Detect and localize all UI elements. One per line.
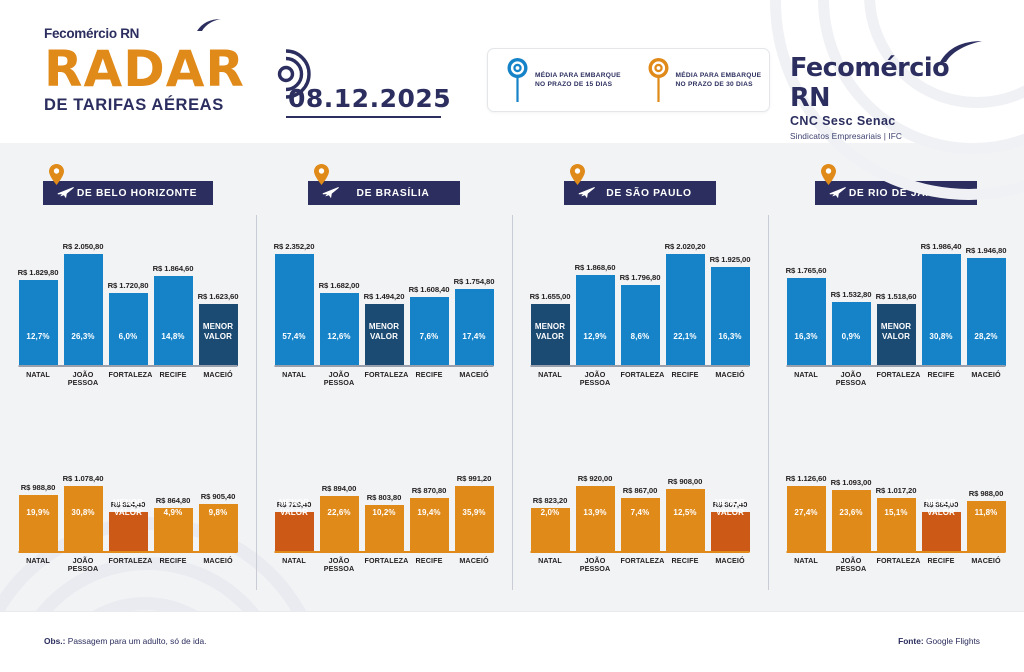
category-label: RECIFE [922,371,961,388]
bar-value-label: R$ 1.946,80 [966,246,1007,255]
bar-slot: R$ 1.925,0016,3% [711,255,750,366]
chart-30-dias: R$ 988,8019,9%R$ 1.078,4030,8%R$ 824,40M… [0,454,256,574]
category-labels: NATALJOÃOPESSOAFORTALEZARECIFEMACEIÓ [256,557,512,574]
bar[interactable]: MENORVALOR [531,304,570,366]
bar-slot: R$ 807,40MENORVALOR [711,500,750,552]
bar-percent-label: 16,3% [718,332,741,366]
category-label: FORTALEZA [109,371,148,388]
bar[interactable]: 12,9% [576,275,615,366]
bar-percent-label: 15,1% [884,508,907,552]
bar-percent-label: 12,5% [673,508,696,552]
bar-percent-label: MENORVALOR [369,322,399,366]
chart-15-dias: R$ 2.352,2057,4%R$ 1.682,0012,6%R$ 1.494… [256,213,512,388]
bar-value-label: R$ 988,00 [969,489,1004,498]
category-label: RECIFE [154,371,193,388]
bar-value-label: R$ 991,20 [457,474,492,483]
bar-value-label: R$ 894,00 [322,484,357,493]
fecomercio-logo-sub: CNC Sesc Senac [790,114,990,128]
bar-percent-label: 57,4% [282,332,305,366]
bar-value-label: R$ 1.925,00 [710,255,751,264]
category-label: MACEIÓ [711,557,750,574]
bar-percent-label: MENORVALOR [535,322,565,366]
bar-slot: R$ 729,40MENORVALOR [275,500,314,552]
bar-value-label: R$ 1.754,80 [454,277,495,286]
report-date: 08.12.2025 [288,84,451,113]
bar[interactable]: 14,8% [154,276,193,366]
chart-15-dias: R$ 1.765,6016,3%R$ 1.532,800,9%R$ 1.518,… [768,213,1024,388]
bar-slot: R$ 1.868,6012,9% [576,263,615,366]
bar-value-label: R$ 1.126,60 [786,474,827,483]
bar-percent-label: 0,9% [842,332,861,366]
bar-slot: R$ 988,8019,9% [19,483,58,552]
origin-column: DE SÃO PAULOR$ 1.655,00MENORVALORR$ 1.86… [512,143,768,611]
bar-value-label: R$ 908,00 [668,477,703,486]
bar[interactable]: MENORVALOR [922,512,961,552]
category-label: JOÃOPESSOA [64,371,103,388]
category-label: FORTALEZA [365,557,404,574]
chart-30-dias: R$ 823,202,0%R$ 920,0013,9%R$ 867,007,4%… [512,454,768,574]
bar[interactable]: 35,9% [455,486,494,552]
page-header: Fecomércio RN RADAR DE TARIFAS AÉREAS 08… [0,0,1024,143]
bar-value-label: R$ 2.020,20 [665,242,706,251]
bar-value-label: R$ 1.868,60 [575,263,616,272]
bar-value-label: R$ 1.494,20 [364,292,405,301]
location-pin-icon [49,164,64,190]
category-label: RECIFE [410,371,449,388]
bar[interactable]: 8,6% [621,285,660,366]
chart-30-dias: R$ 729,40MENORVALORR$ 894,0022,6%R$ 803,… [256,454,512,574]
category-label: MACEIÓ [711,371,750,388]
bar-slot: R$ 1.682,0012,6% [320,281,359,366]
bar-value-label: R$ 1.093,00 [831,478,872,487]
legend-line2: NO PRAZO DE 15 DIAS [535,80,621,90]
bar-value-label: R$ 2.352,20 [274,242,315,251]
bar-percent-label: 8,6% [631,332,650,366]
bar[interactable]: 0,9% [832,302,871,366]
category-label: NATAL [19,371,58,388]
category-labels: NATALJOÃOPESSOAFORTALEZARECIFEMACEIÓ [256,371,512,388]
page-footer: Obs.: Passagem para um adulto, só de ida… [0,611,1024,672]
bar-percent-label: MENORVALOR [926,498,956,552]
bar[interactable]: 16,3% [711,267,750,366]
category-label: JOÃOPESSOA [576,371,615,388]
bar-group: R$ 988,8019,9%R$ 1.078,4030,8%R$ 824,40M… [0,432,256,552]
bar-percent-label: 23,6% [839,508,862,552]
bar-percent-label: 30,8% [71,508,94,552]
bar[interactable]: 30,8% [922,254,961,366]
bar[interactable]: 9,8% [199,504,238,552]
legend-line2-prefix: NO PRAZO DE [535,81,586,88]
bar-slot: R$ 2.352,2057,4% [275,242,314,366]
bar-percent-label: MENORVALOR [715,498,745,552]
bar-value-label: R$ 803,80 [367,493,402,502]
category-labels: NATALJOÃOPESSOAFORTALEZARECIFEMACEIÓ [0,371,256,388]
bar[interactable]: MENORVALOR [365,304,404,366]
bar-slot: R$ 1.093,0023,6% [832,478,871,552]
bar[interactable]: MENORVALOR [109,512,148,552]
bar[interactable]: 30,8% [64,486,103,552]
legend-item-15-dias: MÉDIA PARA EMBARQUE NO PRAZO DE 15 DIAS [488,54,629,107]
bar-percent-label: 4,9% [164,508,183,552]
category-label: RECIFE [154,557,193,574]
bar-value-label: R$ 1.765,60 [786,266,827,275]
category-label: FORTALEZA [109,557,148,574]
bar-group: R$ 729,40MENORVALORR$ 894,0022,6%R$ 803,… [256,432,512,552]
category-label: JOÃOPESSOA [576,557,615,574]
bar-slot: R$ 1.754,8017,4% [455,277,494,366]
bar-percent-label: 14,8% [161,332,184,366]
bar[interactable]: 16,3% [787,278,826,366]
footnote-source: Fonte: Google Flights [898,636,980,646]
bar-percent-label: 26,3% [71,332,94,366]
location-pin-icon [821,164,836,190]
bar-slot: R$ 920,0013,9% [576,474,615,552]
bar[interactable]: 7,6% [410,297,449,366]
chart-axis-line [787,551,1006,553]
fecomercio-small-label: Fecomércio RN [44,26,309,41]
bar-slot: R$ 1.829,8012,7% [19,268,58,366]
footnote-obs-label: Obs.: [44,636,65,646]
bar-slot: R$ 1.623,60MENORVALOR [199,292,238,366]
bar-percent-label: 12,9% [583,332,606,366]
legend-line2-strong: 30 DIAS [726,81,753,88]
chart-axis-line [531,365,750,367]
fecomercio-small-text: Fecomércio RN [44,26,139,41]
bar-slot: R$ 1.608,407,6% [410,285,449,366]
footnote-source-text: Google Flights [924,636,980,646]
category-label: NATAL [787,371,826,388]
bar-group: R$ 1.765,6016,3%R$ 1.532,800,9%R$ 1.518,… [768,191,1024,366]
bar-slot: R$ 823,202,0% [531,496,570,552]
bar-slot: R$ 1.765,6016,3% [787,266,826,366]
bar[interactable]: 23,6% [832,490,871,552]
bar-slot: R$ 988,0011,8% [967,489,1006,552]
category-label: FORTALEZA [877,371,916,388]
bar-slot: R$ 1.518,60MENORVALOR [877,292,916,366]
category-labels: NATALJOÃOPESSOAFORTALEZARECIFEMACEIÓ [512,557,768,574]
bar-slot: R$ 1.532,800,9% [832,290,871,366]
chart-30-dias: R$ 1.126,6027,4%R$ 1.093,0023,6%R$ 1.017… [768,454,1024,574]
bar-value-label: R$ 905,40 [201,492,236,501]
category-label: NATAL [531,557,570,574]
category-labels: NATALJOÃOPESSOAFORTALEZARECIFEMACEIÓ [768,371,1024,388]
bar[interactable]: 19,9% [19,495,58,552]
bar[interactable]: MENORVALOR [877,304,916,366]
bar[interactable]: 13,9% [576,486,615,552]
bar-value-label: R$ 1.682,00 [319,281,360,290]
bar-percent-label: 28,2% [974,332,997,366]
category-label: FORTALEZA [621,557,660,574]
category-labels: NATALJOÃOPESSOAFORTALEZARECIFEMACEIÓ [768,557,1024,574]
legend-text-15-dias: MÉDIA PARA EMBARQUE NO PRAZO DE 15 DIAS [535,54,621,90]
bar-slot: R$ 991,2035,9% [455,474,494,552]
bar-slot: R$ 1.126,6027,4% [787,474,826,552]
bar-percent-label: 35,9% [462,508,485,552]
bar-percent-label: 19,4% [417,508,440,552]
bar-slot: R$ 1.946,8028,2% [967,246,1006,366]
bar-percent-label: MENORVALOR [203,322,233,366]
bar-percent-label: 19,9% [26,508,49,552]
bar-value-label: R$ 870,80 [412,486,447,495]
bar-slot: R$ 1.720,806,0% [109,281,148,366]
bar-group: R$ 1.829,8012,7%R$ 2.050,8026,3%R$ 1.720… [0,191,256,366]
bar-value-label: R$ 823,20 [533,496,568,505]
bar-percent-label: 22,1% [673,332,696,366]
legend-line2: NO PRAZO DE 30 DIAS [676,80,762,90]
bar-value-label: R$ 1.986,40 [921,242,962,251]
category-label: MACEIÓ [199,557,238,574]
footnote-obs: Obs.: Passagem para um adulto, só de ida… [44,636,206,646]
bar-percent-label: 10,2% [372,508,395,552]
bar-value-label: R$ 1.608,40 [409,285,450,294]
chart-15-dias: R$ 1.655,00MENORVALORR$ 1.868,6012,9%R$ … [512,213,768,388]
legend-line2-strong: 15 DIAS [586,81,613,88]
bar-percent-label: 16,3% [794,332,817,366]
bar-slot: R$ 867,007,4% [621,486,660,552]
legend-text-30-dias: MÉDIA PARA EMBARQUE NO PRAZO DE 30 DIAS [676,54,762,90]
category-label: JOÃOPESSOA [832,557,871,574]
report-date-block: 08.12.2025 [288,84,451,118]
bar-percent-label: 7,6% [420,332,439,366]
bar[interactable]: 19,4% [410,498,449,552]
fecomercio-logo-sub2: Sindicatos Empresariais | IFC [790,131,990,141]
bar-value-label: R$ 1.078,40 [63,474,104,483]
bar[interactable]: 6,0% [109,293,148,366]
category-label: MACEIÓ [455,371,494,388]
bar-slot: R$ 870,8019,4% [410,486,449,552]
bar-slot: R$ 1.986,4030,8% [922,242,961,366]
bar[interactable]: 57,4% [275,254,314,366]
legend-line1: MÉDIA PARA EMBARQUE [535,71,621,81]
bar-percent-label: 22,6% [327,508,350,552]
category-label: FORTALEZA [877,557,916,574]
bar-percent-label: 11,8% [975,508,998,552]
bar[interactable]: 17,4% [455,289,494,366]
bar[interactable]: 22,6% [320,496,359,552]
bar[interactable]: 27,4% [787,486,826,552]
radar-infographic: Fecomércio RN RADAR DE TARIFAS AÉREAS 08… [0,0,1024,672]
bar-slot: R$ 824,40MENORVALOR [109,500,148,552]
category-label: JOÃOPESSOA [64,557,103,574]
bar-percent-label: 2,0% [541,508,560,552]
bar-slot: R$ 2.020,2022,1% [666,242,705,366]
origin-column: DE BELO HORIZONTER$ 1.829,8012,7%R$ 2.05… [0,143,256,611]
category-label: RECIFE [666,371,705,388]
bar-percent-label: 6,0% [119,332,138,366]
location-pin-icon [570,164,585,190]
bar[interactable]: 12,5% [666,489,705,552]
bar-group: R$ 2.352,2057,4%R$ 1.682,0012,6%R$ 1.494… [256,191,512,366]
bar[interactable]: 10,2% [365,505,404,552]
chart-axis-line [275,365,494,367]
bar-group: R$ 823,202,0%R$ 920,0013,9%R$ 867,007,4%… [512,432,768,552]
bar-percent-label: 17,4% [462,332,485,366]
bar-slot: R$ 1.494,20MENORVALOR [365,292,404,366]
bar-slot: R$ 1.864,6014,8% [154,264,193,366]
location-pin-icon [314,164,329,190]
bar-value-label: R$ 1.864,60 [153,264,194,273]
feather-logo-icon [938,40,984,70]
bar-slot: R$ 894,0022,6% [320,484,359,552]
category-label: NATAL [275,557,314,574]
bar-slot: R$ 1.655,00MENORVALOR [531,292,570,366]
bar-value-label: R$ 867,00 [623,486,658,495]
category-label: MACEIÓ [455,557,494,574]
category-label: NATAL [275,371,314,388]
bar-percent-label: 13,9% [583,508,606,552]
bar-slot: R$ 803,8010,2% [365,493,404,552]
bar-slot: R$ 884,00MENORVALOR [922,500,961,552]
bar[interactable]: MENORVALOR [275,512,314,552]
category-label: NATAL [787,557,826,574]
category-label: NATAL [531,371,570,388]
bar[interactable]: MENORVALOR [711,512,750,552]
chart-15-dias: R$ 1.829,8012,7%R$ 2.050,8026,3%R$ 1.720… [0,213,256,388]
bar[interactable]: 15,1% [877,498,916,552]
bar-group: R$ 1.126,6027,4%R$ 1.093,0023,6%R$ 1.017… [768,432,1024,552]
charts-grid: DE BELO HORIZONTER$ 1.829,8012,7%R$ 2.05… [0,143,1024,611]
bar-slot: R$ 1.078,4030,8% [64,474,103,552]
bar-percent-label: MENORVALOR [279,498,309,552]
bar-group: R$ 1.655,00MENORVALORR$ 1.868,6012,9%R$ … [512,191,768,366]
bar-slot: R$ 908,0012,5% [666,477,705,552]
bar[interactable]: 11,8% [967,501,1006,552]
category-label: JOÃOPESSOA [832,371,871,388]
category-label: JOÃOPESSOA [320,371,359,388]
category-label: RECIFE [410,557,449,574]
origin-column: DE BRASÍLIAR$ 2.352,2057,4%R$ 1.682,0012… [256,143,512,611]
legend-item-30-dias: MÉDIA PARA EMBARQUE NO PRAZO DE 30 DIAS [629,54,770,107]
bar-percent-label: 12,7% [26,332,49,366]
bar-value-label: R$ 1.623,60 [198,292,239,301]
bar-percent-label: 27,4% [794,508,817,552]
bar-value-label: R$ 988,80 [21,483,56,492]
bar-value-label: R$ 864,80 [156,496,191,505]
bar[interactable]: 7,4% [621,498,660,552]
bar[interactable]: 2,0% [531,508,570,552]
bar-value-label: R$ 1.829,80 [18,268,59,277]
bar-slot: R$ 1.796,808,6% [621,273,660,366]
category-label: FORTALEZA [621,371,660,388]
category-label: NATAL [19,557,58,574]
fecomercio-logo-name: Fecomércio RN [790,53,990,113]
category-label: MACEIÓ [967,371,1006,388]
category-label: MACEIÓ [199,371,238,388]
chart-axis-line [275,551,494,553]
bar[interactable]: 28,2% [967,258,1006,366]
bar-value-label: R$ 1.017,20 [876,486,917,495]
bar-percent-label: 7,4% [631,508,650,552]
category-label: FORTALEZA [365,371,404,388]
bar-value-label: R$ 2.050,80 [63,242,104,251]
chart-axis-line [531,551,750,553]
category-label: MACEIÓ [967,557,1006,574]
bar-percent-label: MENORVALOR [113,498,143,552]
footnote-obs-text: Passagem para um adulto, só de ida. [65,636,206,646]
bar-value-label: R$ 1.796,80 [620,273,661,282]
legend-line2-prefix: NO PRAZO DE [676,81,727,88]
bar[interactable]: 12,6% [320,293,359,366]
legend-line1: MÉDIA PARA EMBARQUE [676,71,762,81]
radar-brand-lockup: Fecomércio RN RADAR DE TARIFAS AÉREAS [44,26,309,115]
category-label: JOÃOPESSOA [320,557,359,574]
footnote-source-label: Fonte: [898,636,924,646]
bar-slot: R$ 2.050,8026,3% [64,242,103,366]
category-labels: NATALJOÃOPESSOAFORTALEZARECIFEMACEIÓ [0,557,256,574]
bar-slot: R$ 905,409,8% [199,492,238,552]
target-pin-blue-icon [507,56,528,107]
bar-value-label: R$ 920,00 [578,474,613,483]
bar-slot: R$ 1.017,2015,1% [877,486,916,552]
target-pin-orange-icon [648,56,669,107]
category-label: RECIFE [922,557,961,574]
legend-box: MÉDIA PARA EMBARQUE NO PRAZO DE 15 DIAS … [487,48,770,112]
bar[interactable]: 26,3% [64,254,103,366]
chart-axis-line [19,365,238,367]
bar[interactable]: 12,7% [19,280,58,366]
bar-value-label: R$ 1.518,60 [876,292,917,301]
fecomercio-logo-text: Fecomércio RN [790,53,949,113]
bar-slot: R$ 864,804,9% [154,496,193,552]
bar-percent-label: 9,8% [209,508,228,552]
bar-value-label: R$ 1.655,00 [530,292,571,301]
bar-value-label: R$ 1.532,80 [831,290,872,299]
origin-column: DE RIO DE JANEIROR$ 1.765,6016,3%R$ 1.53… [768,143,1024,611]
bar[interactable]: 22,1% [666,254,705,366]
feather-small-icon [196,19,222,35]
bar-percent-label: MENORVALOR [881,322,911,366]
bar-percent-label: 30,8% [929,332,952,366]
date-underline [286,116,441,118]
category-label: RECIFE [666,557,705,574]
chart-axis-line [19,551,238,553]
bar-percent-label: 12,6% [327,332,350,366]
bar[interactable]: MENORVALOR [199,304,238,366]
category-labels: NATALJOÃOPESSOAFORTALEZARECIFEMACEIÓ [512,371,768,388]
fecomercio-logo: Fecomércio RN CNC Sesc Senac Sindicatos … [790,53,990,141]
bar[interactable]: 4,9% [154,508,193,552]
chart-axis-line [787,365,1006,367]
bar-value-label: R$ 1.720,80 [108,281,149,290]
